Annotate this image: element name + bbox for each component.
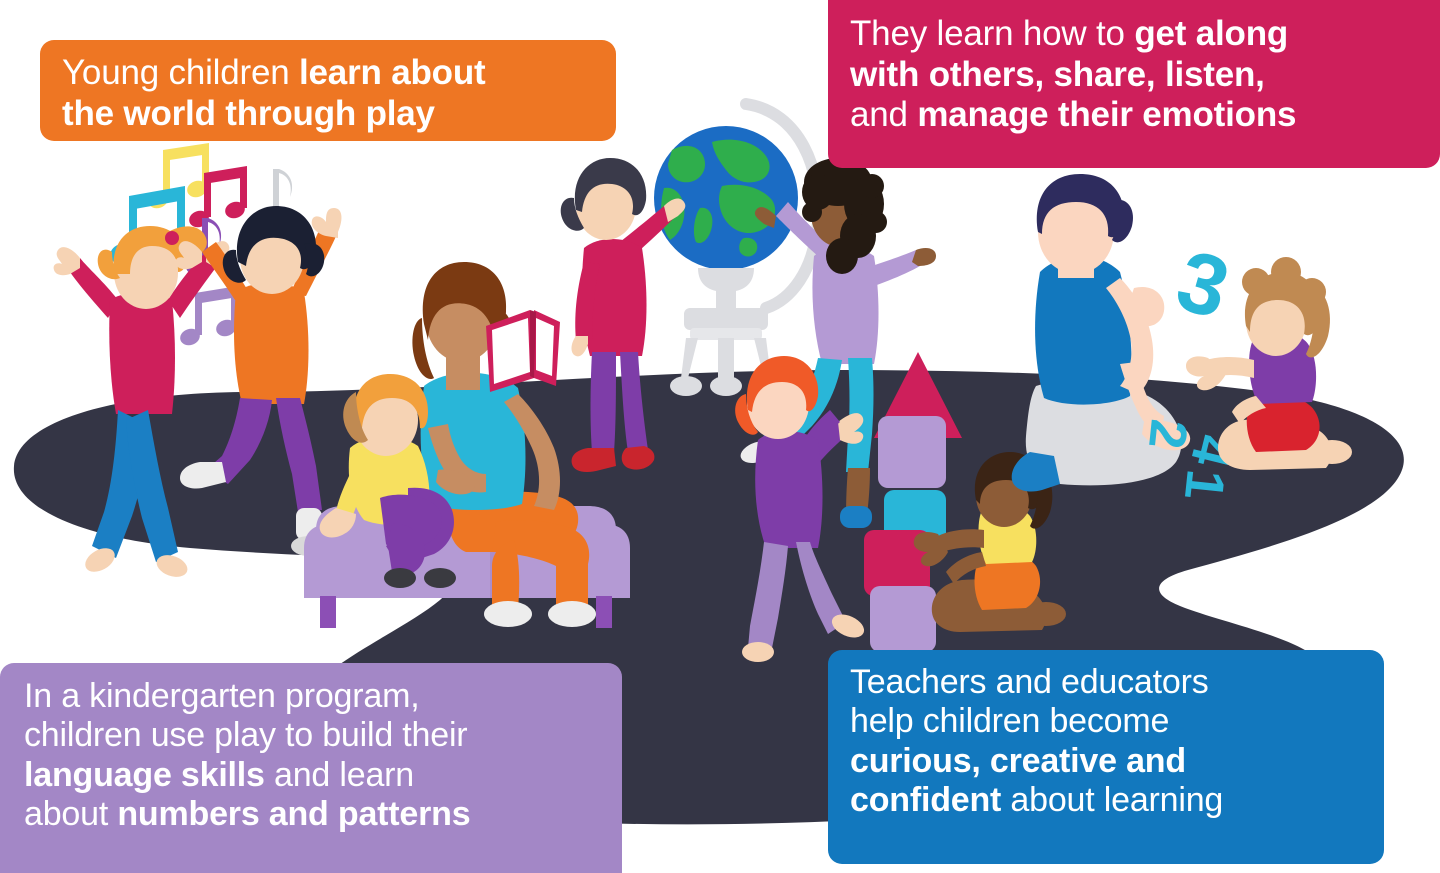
- callout-pink-line-3: and manage their emotions: [850, 95, 1424, 136]
- callout-purple-line-2: children use play to build their: [24, 716, 606, 755]
- callout-pink-line-2: with others, share, listen,: [850, 55, 1424, 96]
- block-square-lilac-top: [878, 416, 946, 488]
- callout-blue-line-2: help children become: [850, 702, 1368, 741]
- block-square-lilac-bottom: [870, 586, 936, 652]
- open-book: [486, 310, 560, 392]
- number-toy-3: 3: [1167, 232, 1239, 337]
- callout-blue-line-4: confident about learning: [850, 781, 1368, 820]
- callout-get-along-with-others: They learn how to get along with others,…: [828, 0, 1440, 168]
- callout-orange-line-1: Young children learn about: [62, 53, 596, 94]
- callout-purple-line-3: language skills and learn: [24, 756, 606, 795]
- callout-learn-through-play: Young children learn about the world thr…: [40, 40, 616, 141]
- number-toy-1: 1: [1173, 467, 1236, 503]
- callout-curious-creative-confident: Teachers and educators help children bec…: [828, 650, 1384, 864]
- callout-language-and-numbers: In a kindergarten program, children use …: [0, 663, 622, 873]
- callout-blue-line-3: curious, creative and: [850, 742, 1368, 781]
- callout-blue-line-1: Teachers and educators: [850, 663, 1368, 702]
- infographic-canvas: 3 2 4 1: [0, 0, 1440, 873]
- callout-purple-line-4: about numbers and patterns: [24, 795, 606, 834]
- globe-on-stand: [654, 104, 818, 396]
- callout-pink-line-1: They learn how to get along: [850, 14, 1424, 55]
- music-note-crimson: [187, 166, 247, 230]
- callout-purple-line-1: In a kindergarten program,: [24, 677, 606, 716]
- callout-orange-line-2: the world through play: [62, 94, 596, 135]
